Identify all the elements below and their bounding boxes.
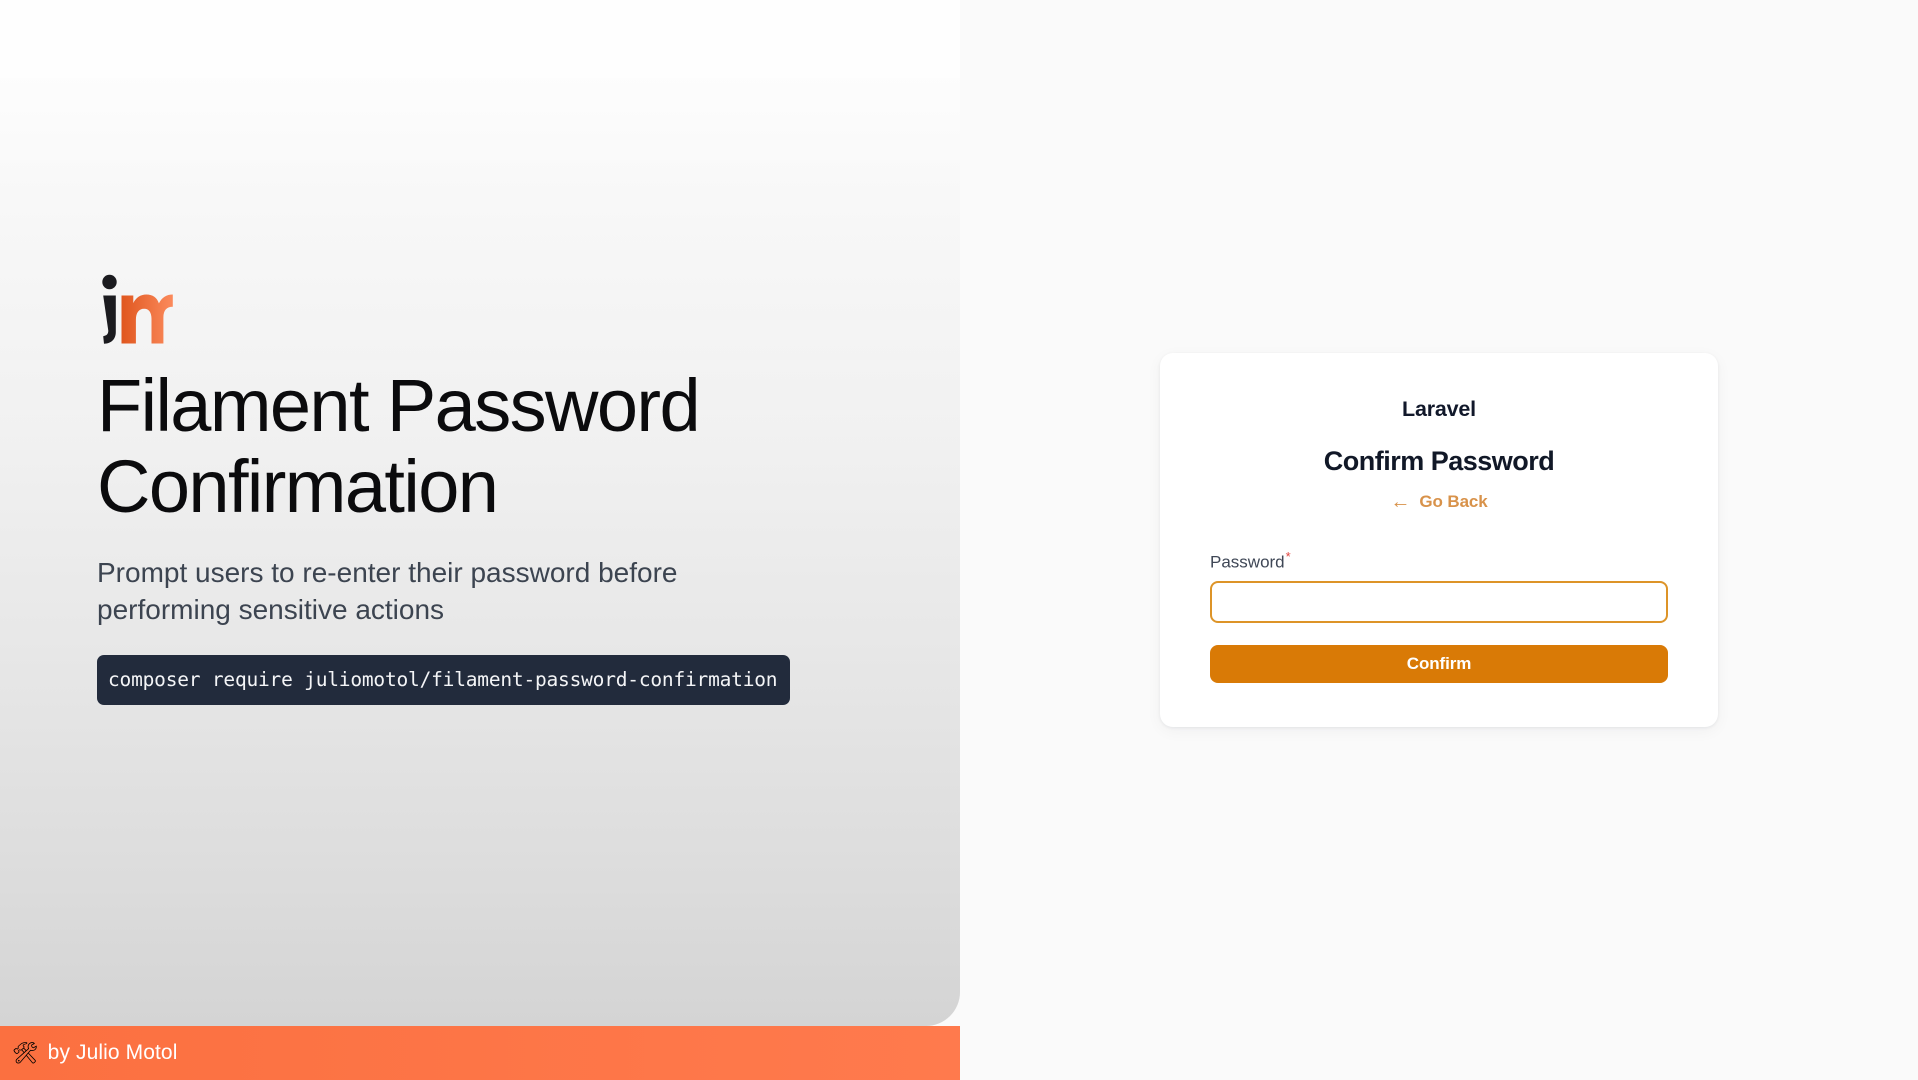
page-root: Filament Password Confirmation Prompt us… — [0, 0, 1918, 1080]
page-title: Filament Password Confirmation — [97, 366, 817, 527]
footer-credit-label: by Julio Motol — [48, 1041, 178, 1065]
install-command-snippet[interactable]: composer require juliomotol/filament-pas… — [97, 655, 790, 705]
brand-name: Laravel — [1210, 397, 1668, 422]
required-marker: * — [1286, 549, 1291, 564]
confirm-password-card: Laravel Confirm Password ← Go Back Passw… — [1160, 353, 1718, 728]
password-input[interactable] — [1210, 581, 1668, 623]
jm-wordmark-logo — [97, 272, 173, 344]
go-back-label: Go Back — [1419, 492, 1487, 512]
password-label: Password* — [1210, 550, 1291, 573]
arrow-left-icon: ← — [1390, 492, 1410, 512]
hammer-and-wrench-emoji: 🛠 — [12, 1043, 39, 1064]
go-back-link[interactable]: ← Go Back — [1210, 492, 1668, 512]
footer-bar: 🛠 by Julio Motol — [0, 1026, 960, 1080]
marketing-content: Filament Password Confirmation Prompt us… — [97, 272, 887, 705]
marketing-panel: Filament Password Confirmation Prompt us… — [0, 0, 960, 1080]
confirm-button[interactable]: Confirm — [1210, 645, 1668, 683]
password-field-group: Password* — [1210, 550, 1668, 624]
password-label-text: Password — [1210, 552, 1285, 571]
page-subtitle: Prompt users to re-enter their password … — [97, 555, 797, 629]
top-white-strip — [0, 0, 960, 78]
card-heading: Confirm Password — [1210, 446, 1668, 477]
auth-panel: Laravel Confirm Password ← Go Back Passw… — [960, 0, 1918, 1080]
